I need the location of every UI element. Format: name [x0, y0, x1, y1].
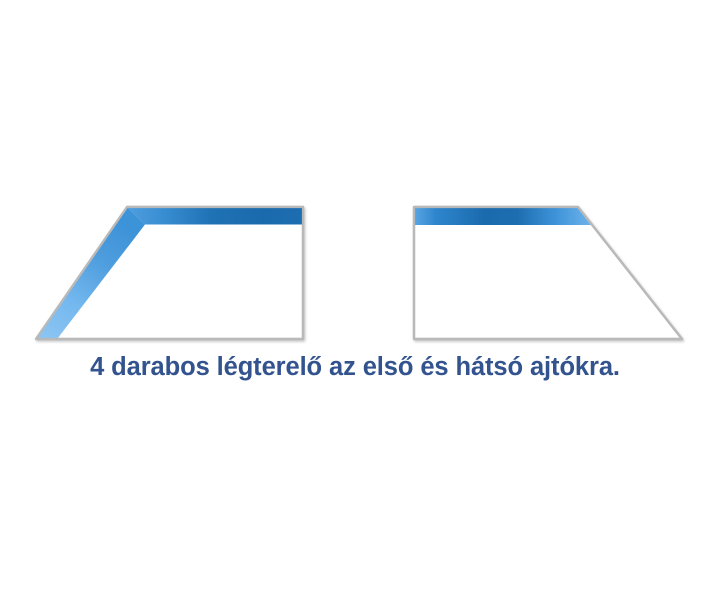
front-deflector-outline	[36, 207, 303, 339]
rear-deflector-top-tint	[414, 207, 592, 225]
front-door-wind-deflector	[36, 207, 303, 339]
rear-deflector-outline	[414, 207, 682, 339]
rear-door-wind-deflector	[414, 207, 682, 339]
product-illustration: 4 darabos légterelő az első és hátsó ajt…	[0, 0, 710, 613]
product-caption: 4 darabos légterelő az első és hátsó ajt…	[0, 352, 710, 382]
deflector-shapes-canvas	[0, 0, 710, 613]
front-deflector-top-tint	[127, 207, 303, 225]
